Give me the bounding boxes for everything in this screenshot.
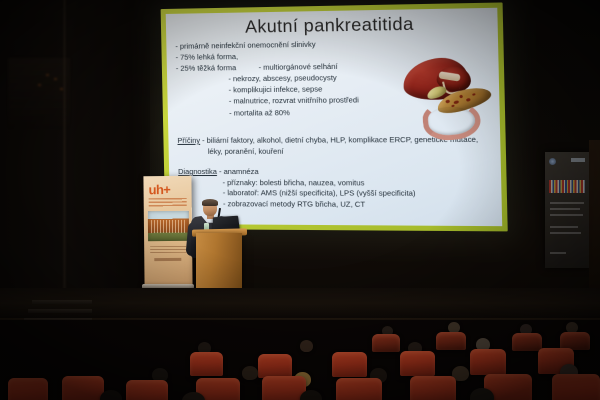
seat: [400, 351, 435, 376]
diagnostika-item: - zobrazovací metody RTG břicha, UZ, CT: [223, 199, 493, 211]
seat: [258, 354, 292, 378]
banner-building-photo: [148, 211, 189, 241]
podium: [196, 233, 242, 293]
seat: [436, 332, 466, 350]
banner-footer-text: [154, 258, 181, 261]
stage-curtain-left: [0, 0, 150, 300]
banner-subtitle-text: [149, 198, 187, 207]
seat: [470, 349, 506, 375]
seat: [336, 378, 382, 400]
diagnostika-line: Diagnostika - anamnéza: [178, 167, 492, 178]
speaker-hair: [202, 199, 218, 206]
seat: [372, 334, 400, 352]
audience-seating: [0, 320, 600, 400]
conference-hall-scene: Akutní pankreatitida - primárně neinfekč…: [0, 0, 600, 400]
lighting-rig: [8, 58, 70, 130]
diagnostika-item: - příznaky: bolesti břicha, nauzea, vomi…: [222, 178, 492, 189]
projection-screen: Akutní pankreatitida - primárně neinfekč…: [161, 2, 508, 231]
seat: [410, 376, 456, 400]
poster-header-bar: [571, 158, 585, 162]
seat: [8, 378, 48, 400]
seat: [552, 374, 600, 400]
seat: [62, 376, 104, 400]
banner-body-text: [150, 246, 186, 253]
section-heading: Diagnostika: [178, 167, 217, 176]
seat: [126, 380, 168, 400]
bullet-item-right: - multiorgánové selhání: [259, 62, 338, 74]
banner-logo: uh+: [148, 183, 170, 196]
poster-flags-graphic: [549, 180, 585, 193]
seat: [190, 352, 223, 376]
wall-poster: [545, 152, 589, 268]
slide-title: Akutní pankreatitida: [166, 12, 498, 39]
seat: [332, 352, 367, 377]
pancreas-liver-anatomy-icon: [400, 52, 493, 133]
section-heading: Příčiny: [177, 136, 200, 145]
right-wall-panel: [589, 140, 600, 290]
priciny-line-2: léky, poranění, kouření: [208, 146, 492, 157]
poster-emblem-icon: [549, 158, 556, 165]
seat: [512, 333, 542, 351]
curtain-seam: [62, 0, 67, 300]
section-body: - anamnéza: [219, 167, 259, 176]
slide-border: Akutní pankreatitida - primárně neinfekč…: [161, 2, 508, 231]
diagnostika-item: - laboratoř: AMS (nižší specificita), LP…: [223, 188, 493, 200]
slide-content: Akutní pankreatitida - primárně neinfekč…: [166, 8, 503, 226]
